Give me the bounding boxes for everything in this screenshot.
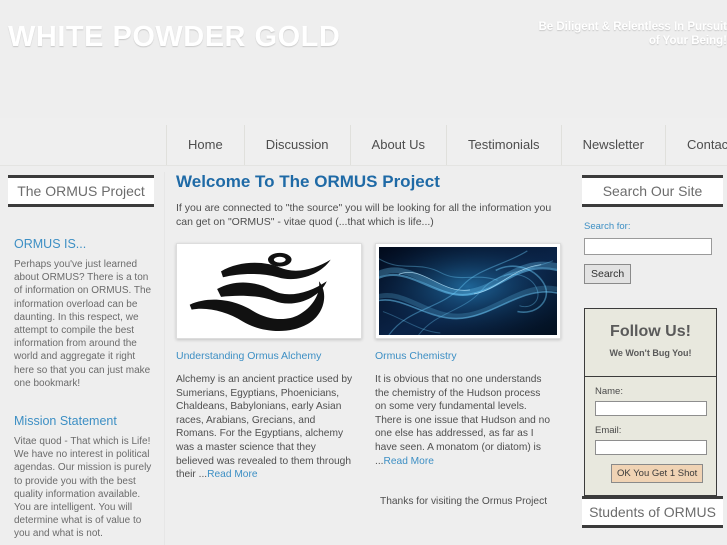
card-body-ormus-chemistry: It is obvious that no one understands th…: [375, 373, 553, 468]
om-symbol-glyph: [177, 244, 361, 338]
follow-us-widget: Follow Us! We Won't Bug You! Name: Email…: [584, 308, 717, 496]
blue-fractal-image[interactable]: [375, 243, 561, 339]
follow-us-subtitle: We Won't Bug You!: [589, 348, 712, 358]
read-more-link-ormus-alchemy[interactable]: Read More: [207, 469, 257, 480]
search-input[interactable]: [584, 238, 712, 255]
follow-us-header: Follow Us! We Won't Bug You!: [585, 309, 716, 377]
right-sidebar: Search Our Site Search for: Search Follo…: [578, 175, 727, 545]
search-button[interactable]: Search: [584, 264, 631, 284]
read-more-link-ormus-chemistry[interactable]: Read More: [384, 456, 434, 467]
main-navigation: Home Discussion About Us Testimonials Ne…: [0, 118, 727, 166]
nav-list: Home Discussion About Us Testimonials Ne…: [166, 125, 727, 165]
nav-item-newsletter[interactable]: Newsletter: [561, 125, 665, 165]
name-field-label: Name:: [595, 386, 706, 397]
left-widget-title: The ORMUS Project: [8, 175, 154, 207]
search-widget-title: Search Our Site: [582, 175, 723, 207]
fractal-art: [379, 247, 557, 335]
email-field[interactable]: [595, 440, 707, 455]
nav-item-contact-us[interactable]: Contact Us: [665, 125, 727, 165]
card-ormus-alchemy: Understanding Ormus Alchemy Alchemy is a…: [176, 243, 362, 482]
tagline-line-2: of Your Being!: [397, 34, 727, 48]
page-intro-text: If you are connected to "the source" you…: [171, 201, 558, 229]
card-ormus-chemistry: Ormus Chemistry It is obvious that no on…: [375, 243, 561, 482]
card-body-text-1: It is obvious that no one understands th…: [375, 374, 550, 467]
site-title: WHITE POWDER GOLD: [8, 21, 340, 54]
sidebar-text-ormus-is: Perhaps you've just learned about ORMUS?…: [14, 258, 152, 390]
om-symbol-image[interactable]: [176, 243, 362, 339]
site-tagline: Be Diligent & Relentless In Pursuit of Y…: [397, 20, 727, 48]
card-body-text-0: Alchemy is an ancient practice used by S…: [176, 374, 352, 480]
name-field[interactable]: [595, 401, 707, 416]
search-field-label: Search for:: [584, 221, 721, 232]
sidebar-block-mission-statement: Mission Statement Vitae quod - That whic…: [0, 414, 162, 541]
card-body-ormus-alchemy: Alchemy is an ancient practice used by S…: [176, 373, 354, 482]
sidebar-block-ormus-is: ORMUS IS... Perhaps you've just learned …: [0, 237, 162, 390]
search-widget: Search for: Search: [578, 207, 727, 284]
follow-us-title: Follow Us!: [589, 323, 712, 341]
sidebar-heading-ormus-is: ORMUS IS...: [14, 237, 152, 251]
nav-item-discussion[interactable]: Discussion: [244, 125, 350, 165]
site-header: WHITE POWDER GOLD Be Diligent & Relentle…: [0, 0, 727, 118]
students-widget-title: Students of ORMUS: [582, 496, 723, 528]
page-title: Welcome To The ORMUS Project: [171, 172, 568, 192]
nav-item-home[interactable]: Home: [166, 125, 244, 165]
fractal-glyph: [379, 247, 557, 335]
card-caption-ormus-alchemy[interactable]: Understanding Ormus Alchemy: [176, 350, 362, 362]
nav-item-testimonials[interactable]: Testimonials: [446, 125, 561, 165]
sidebar-text-mission-statement: Vitae quod - That which is Life! We have…: [14, 435, 152, 541]
tagline-line-1: Be Diligent & Relentless In Pursuit: [397, 20, 727, 34]
card-list: Understanding Ormus Alchemy Alchemy is a…: [171, 243, 568, 482]
subscribe-submit-button[interactable]: OK You Get 1 Shot: [611, 464, 703, 483]
sidebar-heading-mission-statement: Mission Statement: [14, 414, 152, 428]
follow-us-form: Name: Email: OK You Get 1 Shot: [585, 377, 716, 495]
left-sidebar: The ORMUS Project ORMUS IS... Perhaps yo…: [0, 175, 162, 545]
nav-item-about-us[interactable]: About Us: [350, 125, 446, 165]
thanks-message: Thanks for visiting the Ormus Project: [375, 496, 568, 507]
card-caption-ormus-chemistry[interactable]: Ormus Chemistry: [375, 350, 561, 362]
email-field-label: Email:: [595, 425, 706, 436]
main-content: Welcome To The ORMUS Project If you are …: [164, 172, 568, 545]
